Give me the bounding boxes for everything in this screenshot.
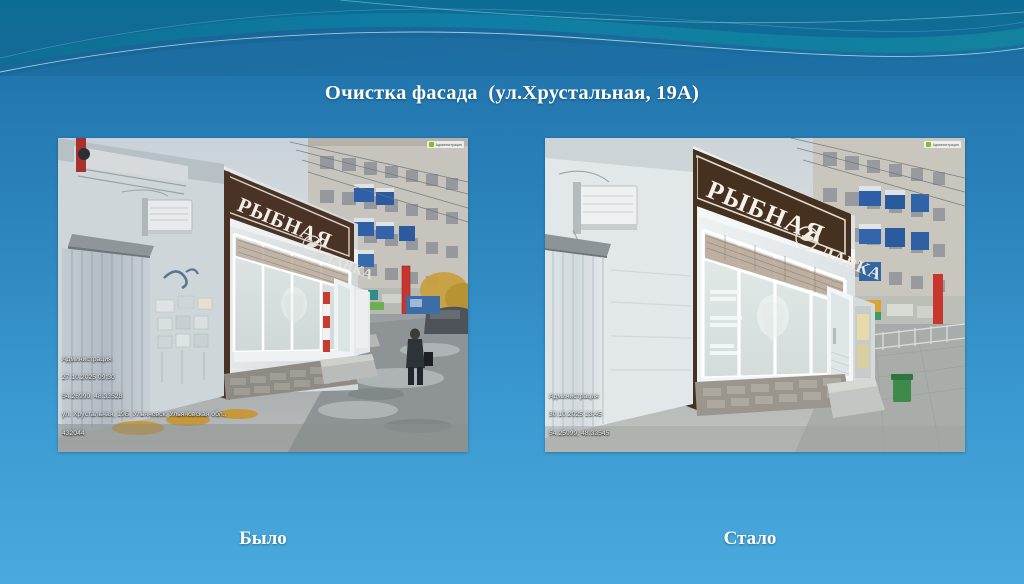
- presentation-slide: Очистка фасада (ул.Хрустальная, 19А): [0, 0, 1024, 584]
- photo-after[interactable]: РЫБНАЯ ЛАВКА: [545, 138, 965, 452]
- watermark-dot-icon: [926, 142, 931, 147]
- watermark-label: Администрация: [436, 143, 462, 147]
- watermark-dot-icon: [429, 142, 434, 147]
- photo-before-image: РЫБНАЯ ЛАВКА: [58, 138, 468, 452]
- photo-after-watermark: Администрация: [924, 141, 961, 148]
- photo-before-watermark: Администрация: [427, 141, 464, 148]
- photo-before[interactable]: РЫБНАЯ ЛАВКА: [58, 138, 468, 452]
- decorative-wave-header: [0, 0, 1024, 76]
- watermark-label: Администрация: [933, 143, 959, 147]
- caption-after: Стало: [645, 528, 855, 550]
- caption-before: Было: [158, 528, 368, 550]
- photo-after-image: РЫБНАЯ ЛАВКА: [545, 138, 965, 452]
- slide-title: Очистка фасада (ул.Хрустальная, 19А): [0, 82, 1024, 105]
